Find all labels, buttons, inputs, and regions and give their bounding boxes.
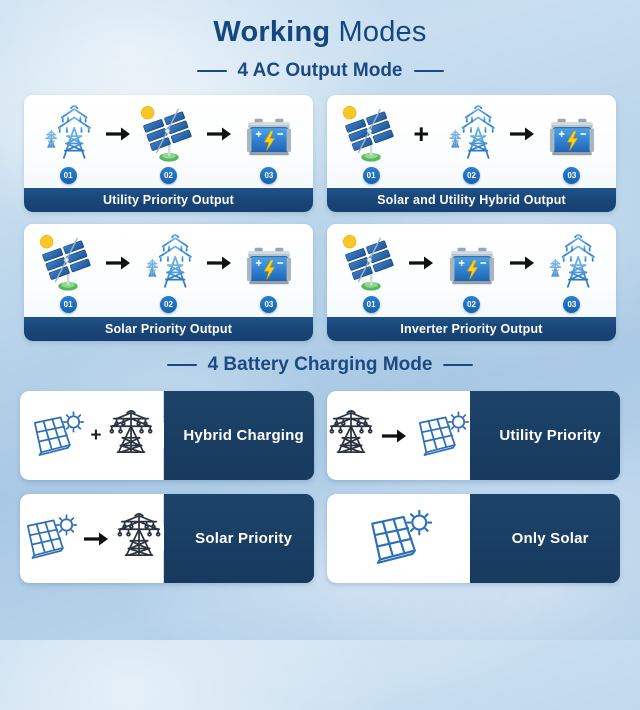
charging-card-icons: + xyxy=(20,391,164,480)
diagram-stage: 03 xyxy=(538,232,606,313)
ac-card-diagram: 01 + 02 03 xyxy=(327,95,616,188)
plus-icon: + xyxy=(90,426,101,445)
page-title: Working Modes xyxy=(0,0,640,49)
arrow-right-icon xyxy=(381,428,407,444)
rule-left-icon xyxy=(167,364,197,366)
stage-badge: 03 xyxy=(260,296,277,313)
ac-output-card[interactable]: 01 02 03 xyxy=(24,95,313,212)
charging-card-icons xyxy=(20,494,164,583)
battery-charging-section: 4 Battery Charging Mode + Hybrid Chargin… xyxy=(0,354,640,583)
rule-right-icon xyxy=(443,364,473,366)
charging-card-label: Solar Priority xyxy=(195,530,292,547)
ac-card-label: Solar Priority Output xyxy=(24,317,313,341)
power-tower-line-icon xyxy=(107,410,155,461)
ac-output-card-grid: 01 02 03 xyxy=(24,95,616,341)
stage-badge: 01 xyxy=(60,296,77,313)
power-tower-icon xyxy=(43,103,93,165)
charging-card-label: Utility Priority xyxy=(499,427,601,444)
charging-card-icons xyxy=(327,391,471,480)
solar-panel-icon xyxy=(340,103,402,165)
arrow-right-icon xyxy=(405,232,437,294)
solar-panel-icon xyxy=(340,232,402,294)
battery-icon xyxy=(242,232,296,294)
ac-section-heading: 4 AC Output Mode xyxy=(0,60,640,82)
ac-card-label: Utility Priority Output xyxy=(24,188,313,212)
solar-panel-line-icon xyxy=(413,410,469,461)
stage-badge: 03 xyxy=(563,167,580,184)
charging-card-label-panel: Hybrid Charging xyxy=(164,391,314,480)
charging-section-heading: 4 Battery Charging Mode xyxy=(0,354,640,376)
diagram-stage: 01 xyxy=(337,103,405,184)
diagram-stage: 03 xyxy=(235,232,303,313)
stage-badge: 02 xyxy=(160,167,177,184)
diagram-stage: 02 xyxy=(134,232,202,313)
diagram-stage: 02 xyxy=(134,103,202,184)
battery-icon xyxy=(545,103,599,165)
charging-card[interactable]: Solar Priority xyxy=(20,494,314,583)
charging-card[interactable]: Only Solar xyxy=(327,494,621,583)
stage-badge: 03 xyxy=(563,296,580,313)
battery-icon xyxy=(242,103,296,165)
solar-panel-line-icon xyxy=(364,508,432,569)
stage-badge: 02 xyxy=(463,167,480,184)
power-tower-line-icon xyxy=(327,410,375,461)
charging-card-icons xyxy=(327,494,471,583)
infographic-page: Working Modes 4 AC Output Mode 01 xyxy=(0,0,640,640)
ac-section-heading-label: 4 AC Output Mode xyxy=(238,60,403,82)
rule-left-icon xyxy=(197,70,227,72)
charging-card[interactable]: + Hybrid Charging xyxy=(20,391,314,480)
stage-badge: 02 xyxy=(463,296,480,313)
solar-panel-line-icon xyxy=(28,410,84,461)
charging-card-label-panel: Solar Priority xyxy=(164,494,314,583)
ac-card-diagram: 01 02 03 xyxy=(24,95,313,188)
arrow-right-icon xyxy=(102,103,134,165)
diagram-stage: 02 xyxy=(437,103,505,184)
battery-icon xyxy=(445,232,499,294)
power-tower-icon xyxy=(144,232,194,294)
page-title-strong: Working xyxy=(213,16,330,48)
ac-card-label: Inverter Priority Output xyxy=(327,317,616,341)
power-tower-line-icon xyxy=(115,513,163,564)
ac-card-diagram: 01 02 03 xyxy=(24,224,313,317)
solar-panel-icon xyxy=(37,232,99,294)
power-tower-icon xyxy=(547,232,597,294)
charging-section-heading-label: 4 Battery Charging Mode xyxy=(208,354,433,376)
charging-card-label-panel: Only Solar xyxy=(470,494,620,583)
diagram-stage: 02 xyxy=(437,232,505,313)
arrow-right-icon xyxy=(203,232,235,294)
ac-output-card[interactable]: 01 02 03 xyxy=(24,224,313,341)
stage-badge: 03 xyxy=(260,167,277,184)
charging-card-grid: + Hybrid Charging xyxy=(20,391,620,583)
diagram-stage: 03 xyxy=(538,103,606,184)
rule-right-icon xyxy=(414,70,444,72)
solar-panel-line-icon xyxy=(21,513,77,564)
plus-icon: + xyxy=(405,103,437,165)
stage-badge: 02 xyxy=(160,296,177,313)
stage-badge: 01 xyxy=(363,296,380,313)
charging-card-label: Hybrid Charging xyxy=(183,427,304,444)
charging-card-label: Only Solar xyxy=(512,530,589,547)
arrow-right-icon xyxy=(83,531,109,547)
ac-output-card[interactable]: 01 + 02 03 Sola xyxy=(327,95,616,212)
diagram-stage: 03 xyxy=(235,103,303,184)
diagram-stage: 01 xyxy=(34,232,102,313)
ac-output-card[interactable]: 01 02 03 xyxy=(327,224,616,341)
charging-card-label-panel: Utility Priority xyxy=(470,391,620,480)
power-tower-icon xyxy=(447,103,497,165)
stage-badge: 01 xyxy=(363,167,380,184)
solar-panel-icon xyxy=(138,103,200,165)
page-title-light: Modes xyxy=(339,16,427,48)
arrow-right-icon xyxy=(102,232,134,294)
arrow-right-icon xyxy=(203,103,235,165)
diagram-stage: 01 xyxy=(34,103,102,184)
charging-card[interactable]: Utility Priority xyxy=(327,391,621,480)
diagram-stage: 01 xyxy=(337,232,405,313)
ac-card-diagram: 01 02 03 xyxy=(327,224,616,317)
arrow-right-icon xyxy=(506,232,538,294)
arrow-right-icon xyxy=(506,103,538,165)
stage-badge: 01 xyxy=(60,167,77,184)
ac-card-label: Solar and Utility Hybrid Output xyxy=(327,188,616,212)
